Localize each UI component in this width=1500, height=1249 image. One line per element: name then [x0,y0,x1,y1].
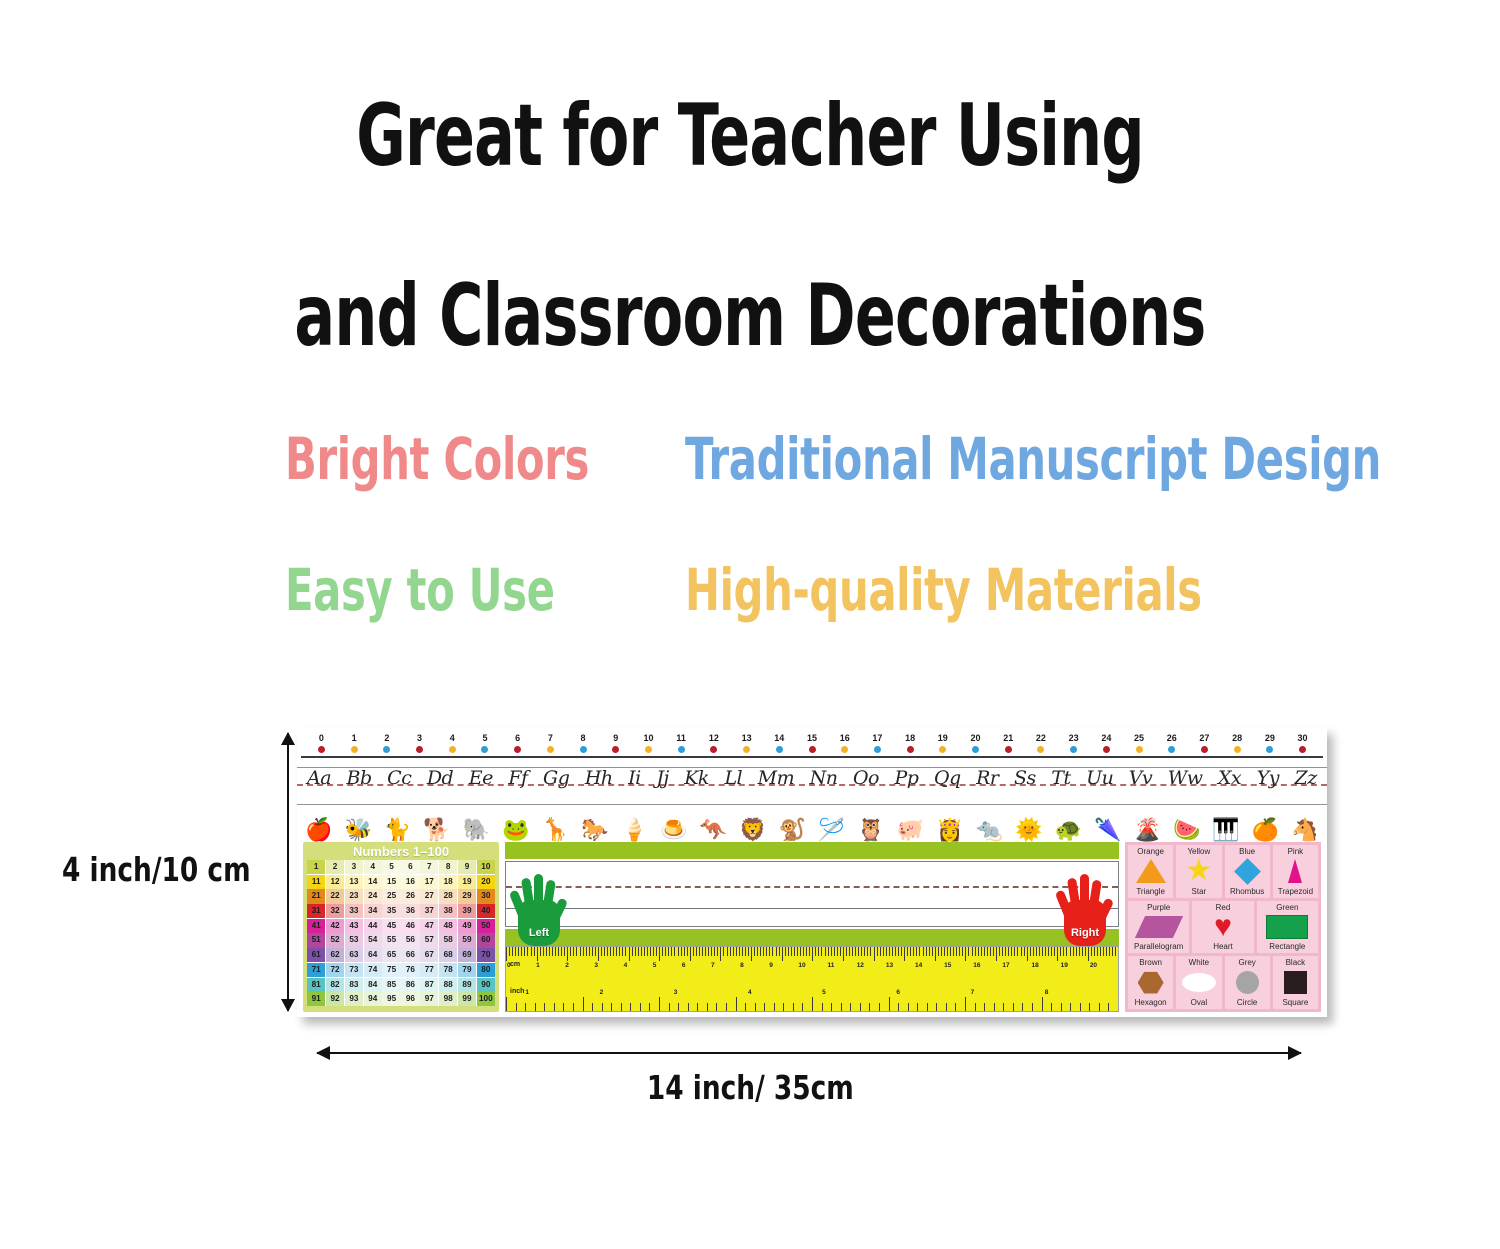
number-line-dot [809,746,816,753]
number-cell-1: 1 [307,860,325,874]
number-line-dot [481,746,488,753]
ruler-inch-tick [563,1003,573,1011]
number-line-tick-30: 30 [1292,733,1314,753]
ruler-inch-label-2: 2 [600,989,674,996]
ruler-inch-tick [1032,1003,1042,1011]
ruler-inch-tick [822,1003,832,1011]
number-line-tick-2: 2 [376,733,398,753]
alphabet-letter-Jj: Jj [656,767,669,789]
ruler-cm-label-11: 11 [828,962,857,969]
pig-picture: 🐖 [897,818,924,842]
number-line-axis [301,756,1323,758]
ruler-cm-labels: 01234567891011121314151617181920 [506,962,1118,969]
ruler-inch-tick [946,1003,956,1011]
alphabet-letter-Ww: Ww [1168,767,1203,789]
number-line-tick-4: 4 [441,733,463,753]
number-cell-35: 35 [382,904,400,918]
number-line-dot [743,746,750,753]
number-line-dot [907,746,914,753]
handwriting-lines: Left Right [505,861,1119,927]
number-cell-53: 53 [345,933,363,947]
number-line-value: 8 [572,733,594,743]
number-line-value: 5 [474,733,496,743]
ruler-inch-tick [1042,997,1052,1011]
ruler-cm-tick [1115,947,1118,956]
number-cell-37: 37 [420,904,438,918]
number-line-value: 16 [834,733,856,743]
number-line-tick-21: 21 [997,733,1019,753]
left-hand-icon: Left [512,868,566,946]
number-cell-79: 79 [458,963,476,977]
ruler-inch-tick [1022,1003,1032,1011]
ruler-inch-tick [860,1003,870,1011]
ruler-inch-tick [659,997,669,1011]
number-line-tick-22: 22 [1030,733,1052,753]
ruler-inch-tick [707,1003,717,1011]
palm [1064,900,1106,946]
number-line-dot [383,746,390,753]
ruler-inch-tick [621,1003,631,1011]
number-cell-27: 27 [420,889,438,903]
ruler-inch-tick [592,1003,602,1011]
shape-cell-heart: Red♥Heart [1192,901,1253,954]
number-line-tick-3: 3 [409,733,431,753]
number-line-tick-29: 29 [1259,733,1281,753]
number-cell-87: 87 [420,978,438,992]
number-line-dot [514,746,521,753]
number-cell-20: 20 [477,875,495,889]
square-glyph [1284,971,1307,994]
number-cell-63: 63 [345,948,363,962]
yam-picture: 🍊 [1252,818,1279,842]
ruler-inch-ticks [506,997,1118,1011]
oval-glyph [1182,973,1216,992]
alphabet-letter-Pp: Pp [894,767,918,789]
alphabet-letter-Ss: Ss [1014,767,1036,789]
number-cell-22: 22 [326,889,344,903]
number-cell-56: 56 [401,933,419,947]
number-line-tick-1: 1 [343,733,365,753]
number-line-tick-25: 25 [1128,733,1150,753]
number-line-dot [416,746,423,753]
parallelogram-icon [1128,912,1189,943]
star-icon: ★ [1176,856,1221,887]
number-line-dot [939,746,946,753]
number-line-value: 1 [343,733,365,743]
number-cell-7: 7 [420,860,438,874]
ruler-inch-tick [936,1003,946,1011]
number-cell-6: 6 [401,860,419,874]
ruler-inch-label-8: 8 [1045,989,1119,996]
number-line-value: 14 [768,733,790,743]
ruler-inch-label-6: 6 [896,989,970,996]
ruler-cm-unit-label: cm [510,961,520,968]
number-cell-62: 62 [326,948,344,962]
ruler-inch-tick [908,1003,918,1011]
ruler-inch-tick [736,997,746,1011]
ruler-inch-tick [1080,1003,1090,1011]
number-line-dot [1299,746,1306,753]
handwriting-dashed-midline [506,886,1118,888]
ruler-inch-tick [764,1003,774,1011]
alphabet-letter-Aa: Aa [307,767,331,789]
ruler-inch-tick [812,997,822,1011]
shape-name-label: Circle [1237,998,1257,1007]
number-cell-34: 34 [364,904,382,918]
number-cell-94: 94 [364,992,382,1006]
page-title-line-1: Great for Teacher Using [165,88,1335,184]
number-cell-12: 12 [326,875,344,889]
ruler-inch-tick [879,1003,889,1011]
ruler-inch-label-7: 7 [971,989,1045,996]
shape-name-label: Oval [1191,998,1207,1007]
number-cell-39: 39 [458,904,476,918]
ruler-inch-unit-label: inch [510,988,524,995]
number-cell-25: 25 [382,889,400,903]
ruler-inch-tick [1070,1003,1080,1011]
shape-name-label: Parallelogram [1134,942,1183,951]
number-cell-86: 86 [401,978,419,992]
number-line-dot [841,746,848,753]
numbers-chart-panel: Numbers 1–100 12345678910111213141516171… [303,842,499,1012]
ruler-inch-tick [898,1003,908,1011]
frog-picture: 🐸 [502,818,529,842]
ruler-inch-tick [1003,1003,1013,1011]
number-line-tick-23: 23 [1063,733,1085,753]
shape-row: OrangeTriangleYellow★StarBlueRhombusPink… [1128,845,1318,898]
number-cell-15: 15 [382,875,400,889]
square-icon [1273,967,1318,998]
ruler-inch-tick [774,1003,784,1011]
umbrella-picture: 🌂 [1094,818,1121,842]
queen-picture: 👸 [936,818,963,842]
ruler-inch-tick [678,1003,688,1011]
number-cell-72: 72 [326,963,344,977]
number-line-dot [612,746,619,753]
number-cell-68: 68 [439,948,457,962]
ruler-inch-tick [1089,1003,1099,1011]
number-line-dot [449,746,456,753]
needle-picture: 🪡 [818,818,845,842]
ruler-inch-tick [611,1003,621,1011]
number-line-value: 6 [507,733,529,743]
number-cell-64: 64 [364,948,382,962]
number-cell-41: 41 [307,919,325,933]
star-glyph: ★ [1185,858,1212,884]
number-cell-65: 65 [382,948,400,962]
alphabet-letter-Tt: Tt [1051,767,1070,789]
shape-name-label: Rectangle [1269,942,1305,951]
number-cell-51: 51 [307,933,325,947]
shape-color-label: Purple [1147,903,1170,912]
number-cell-3: 3 [345,860,363,874]
alphabet-letter-Zz: Zz [1295,767,1317,789]
height-dimension-arrow [287,733,289,1011]
number-cell-31: 31 [307,904,325,918]
ruler-inch-tick [726,1003,736,1011]
ruler-inch-tick [745,1003,755,1011]
shape-name-label: Heart [1213,942,1233,951]
number-line-value: 27 [1193,733,1215,743]
number-cell-95: 95 [382,992,400,1006]
number-line-value: 18 [899,733,921,743]
number-line-dot [972,746,979,753]
ruler-inch-tick [1108,1003,1118,1011]
ruler-inch-tick [649,1003,659,1011]
trapezoid-icon [1273,856,1318,887]
alphabet-picture-strip: 🍎🐝🐈🐕🐘🐸🦒🐎🍦🍮🦘🦁🐒🪡🦉🐖👸🐀🌞🐢🌂🌋🍉🎹🍊🐴 [297,805,1327,842]
number-cell-42: 42 [326,919,344,933]
ruler-inch-tick [506,997,516,1011]
number-line-tick-18: 18 [899,733,921,753]
ice-cream-picture: 🍦 [621,818,648,842]
shape-row: BrownHexagonWhiteOvalGreyCircleBlackSqua… [1128,956,1318,1009]
ruler-inch-tick [1013,1003,1023,1011]
number-line-tick-28: 28 [1226,733,1248,753]
circle-glyph [1236,971,1259,994]
number-line-value: 9 [605,733,627,743]
alphabet-letter-Ii: Ii [628,767,641,789]
alphabet-letter-Hh: Hh [585,767,613,789]
number-line-tick-0: 0 [310,733,332,753]
xylophone-picture: 🎹 [1212,818,1239,842]
alphabet-letter-Yy: Yy [1257,767,1279,789]
handwriting-baseline [506,908,1118,909]
number-line-tick-27: 27 [1193,733,1215,753]
numbers-chart-grid: 1234567891011121314151617181920212223242… [307,860,495,1006]
alphabet-letter-Nn: Nn [810,767,838,789]
ruler-inch-tick [1061,1003,1071,1011]
triangle-glyph [1136,859,1166,883]
shape-cell-square: BlackSquare [1273,956,1318,1009]
number-cell-16: 16 [401,875,419,889]
number-cell-92: 92 [326,992,344,1006]
handwriting-practice-panel: Left Right 01234567891011121314151617181… [505,842,1119,1012]
ruler-inch-label-4: 4 [748,989,822,996]
rectangle-icon [1257,912,1318,943]
shape-cell-rectangle: GreenRectangle [1257,901,1318,954]
number-line-dot [547,746,554,753]
volcano-picture: 🌋 [1134,818,1161,842]
number-cell-8: 8 [439,860,457,874]
number-cell-54: 54 [364,933,382,947]
number-cell-66: 66 [401,948,419,962]
number-line-dot [351,746,358,753]
number-line-dot [1070,746,1077,753]
alphabet-letter-Vv: Vv [1129,767,1152,789]
ruler-cm-label-1: 1 [536,962,565,969]
alphabet-letter-Kk: Kk [684,767,709,789]
palm [518,900,560,946]
number-cell-57: 57 [420,933,438,947]
ruler-inch-tick [716,1003,726,1011]
ruler-inch-tick [841,1003,851,1011]
number-line-dot [1136,746,1143,753]
alphabet-letter-Gg: Gg [543,767,569,789]
product-image-desk-nameplate: 0123456789101112131415161718192021222324… [297,727,1327,1017]
number-line-dot [1037,746,1044,753]
cursive-alphabet-band: AaBbCcDdEeFfGgHhIiJjKkLlMmNnOoPpQqRrSsTt… [297,767,1327,805]
alphabet-letter-Oo: Oo [853,767,879,789]
number-line-value: 12 [703,733,725,743]
green-bar-bottom [505,929,1119,946]
alphabet-letter-Ff: Ff [508,767,527,789]
ruler-inch-tick [544,1003,554,1011]
ruler-inch-tick [793,1003,803,1011]
alphabet-letter-Qq: Qq [934,767,961,789]
number-cell-50: 50 [477,919,495,933]
ruler-inch-tick [1099,1003,1109,1011]
number-cell-99: 99 [458,992,476,1006]
hexagon-icon [1128,967,1173,998]
shape-cell-circle: GreyCircle [1225,956,1270,1009]
ruler-inch-tick [573,1003,583,1011]
ruler-cm-label-20: 20 [1090,962,1119,969]
number-line-tick-6: 6 [507,733,529,753]
ruler-inch-tick [535,1003,545,1011]
number-cell-82: 82 [326,978,344,992]
number-cell-90: 90 [477,978,495,992]
number-cell-60: 60 [477,933,495,947]
number-line-dot [1005,746,1012,753]
number-line-value: 23 [1063,733,1085,743]
watermelon-picture: 🍉 [1173,818,1200,842]
giraffe-picture: 🦒 [542,818,569,842]
ruler-inch-tick [831,1003,841,1011]
shape-cell-parallelogram: PurpleParallelogram [1128,901,1189,954]
number-cell-88: 88 [439,978,457,992]
number-line-tick-17: 17 [866,733,888,753]
ruler-cm-label-7: 7 [711,962,740,969]
number-cell-78: 78 [439,963,457,977]
shapes-and-colors-panel: OrangeTriangleYellow★StarBlueRhombusPink… [1125,842,1321,1012]
number-line-value: 19 [932,733,954,743]
ruler-cm-ticks [506,947,1118,961]
ruler-inch-label-1: 1 [525,989,599,996]
number-line-value: 24 [1095,733,1117,743]
ruler-inch-tick [975,1003,985,1011]
shape-color-label: Brown [1139,958,1162,967]
number-line-tick-15: 15 [801,733,823,753]
alphabet-letter-Ee: Ee [469,767,493,789]
ruler-inch-labels: 12345678 [506,989,1118,996]
number-cell-44: 44 [364,919,382,933]
number-cell-14: 14 [364,875,382,889]
number-cell-26: 26 [401,889,419,903]
jelly-picture: 🍮 [660,818,687,842]
ruler: 01234567891011121314151617181920 cm 1234… [505,946,1119,1012]
number-line-dot [1201,746,1208,753]
ruler-inch-tick [602,1003,612,1011]
ruler-cm-label-18: 18 [1032,962,1061,969]
number-cell-97: 97 [420,992,438,1006]
shape-row: PurpleParallelogramRed♥HeartGreenRectang… [1128,901,1318,954]
number-line-dot [874,746,881,753]
ruler-cm-label-13: 13 [886,962,915,969]
number-line-tick-16: 16 [834,733,856,753]
number-cell-61: 61 [307,948,325,962]
height-dimension-label: 4 inch/10 cm [62,850,251,889]
alphabet-letter-Mm: Mm [758,767,794,789]
number-cell-59: 59 [458,933,476,947]
number-cell-47: 47 [420,919,438,933]
number-cell-49: 49 [458,919,476,933]
number-cell-4: 4 [364,860,382,874]
number-line-value: 17 [866,733,888,743]
ruler-inch-tick [755,1003,765,1011]
elephant-picture: 🐘 [463,818,490,842]
ruler-inch-label-3: 3 [674,989,748,996]
shape-cell-triangle: OrangeTriangle [1128,845,1173,898]
number-cell-91: 91 [307,992,325,1006]
rectangle-glyph [1266,915,1308,939]
ruler-cm-label-17: 17 [1002,962,1031,969]
width-dimension-label: 14 inch/ 35cm [0,1068,1500,1107]
shape-cell-star: Yellow★Star [1176,845,1221,898]
number-cell-98: 98 [439,992,457,1006]
cat-picture: 🐈 [384,818,411,842]
ruler-inch-tick [984,1003,994,1011]
alphabet-letter-Bb: Bb [347,767,372,789]
ruler-cm-label-10: 10 [798,962,827,969]
number-line-tick-14: 14 [768,733,790,753]
ruler-cm-label-12: 12 [857,962,886,969]
number-cell-77: 77 [420,963,438,977]
number-line-tick-24: 24 [1095,733,1117,753]
number-cell-69: 69 [458,948,476,962]
number-line-value: 10 [637,733,659,743]
number-cell-84: 84 [364,978,382,992]
page-title-line-2: and Classroom Decorations [165,268,1335,364]
number-cell-55: 55 [382,933,400,947]
number-cell-18: 18 [439,875,457,889]
number-cell-89: 89 [458,978,476,992]
number-line-dot [1103,746,1110,753]
hand-label: Right [1058,927,1112,939]
number-line-tick-7: 7 [539,733,561,753]
monkey-picture: 🐒 [778,818,805,842]
number-line-dot [1168,746,1175,753]
ruler-inch-tick [583,997,593,1011]
ruler-inch-tick [630,1003,640,1011]
number-cell-2: 2 [326,860,344,874]
ruler-cm-label-19: 19 [1061,962,1090,969]
dog-picture: 🐕 [423,818,450,842]
shape-name-label: Hexagon [1135,998,1167,1007]
green-bar-top [505,842,1119,859]
number-cell-40: 40 [477,904,495,918]
alphabet-letter-Xx: Xx [1218,767,1241,789]
number-line-value: 25 [1128,733,1150,743]
number-line-value: 4 [441,733,463,743]
ruler-inch-tick [688,1003,698,1011]
shape-cell-oval: WhiteOval [1176,956,1221,1009]
shape-color-label: Grey [1238,958,1255,967]
number-line-value: 15 [801,733,823,743]
number-cell-81: 81 [307,978,325,992]
ruler-inch-tick [697,1003,707,1011]
number-line-value: 22 [1030,733,1052,743]
number-line-tick-8: 8 [572,733,594,753]
number-cell-48: 48 [439,919,457,933]
number-line-dot [318,746,325,753]
number-line-dot [645,746,652,753]
number-cell-30: 30 [477,889,495,903]
number-cell-83: 83 [345,978,363,992]
triangle-icon [1128,856,1173,887]
oval-icon [1176,967,1221,998]
number-cell-74: 74 [364,963,382,977]
